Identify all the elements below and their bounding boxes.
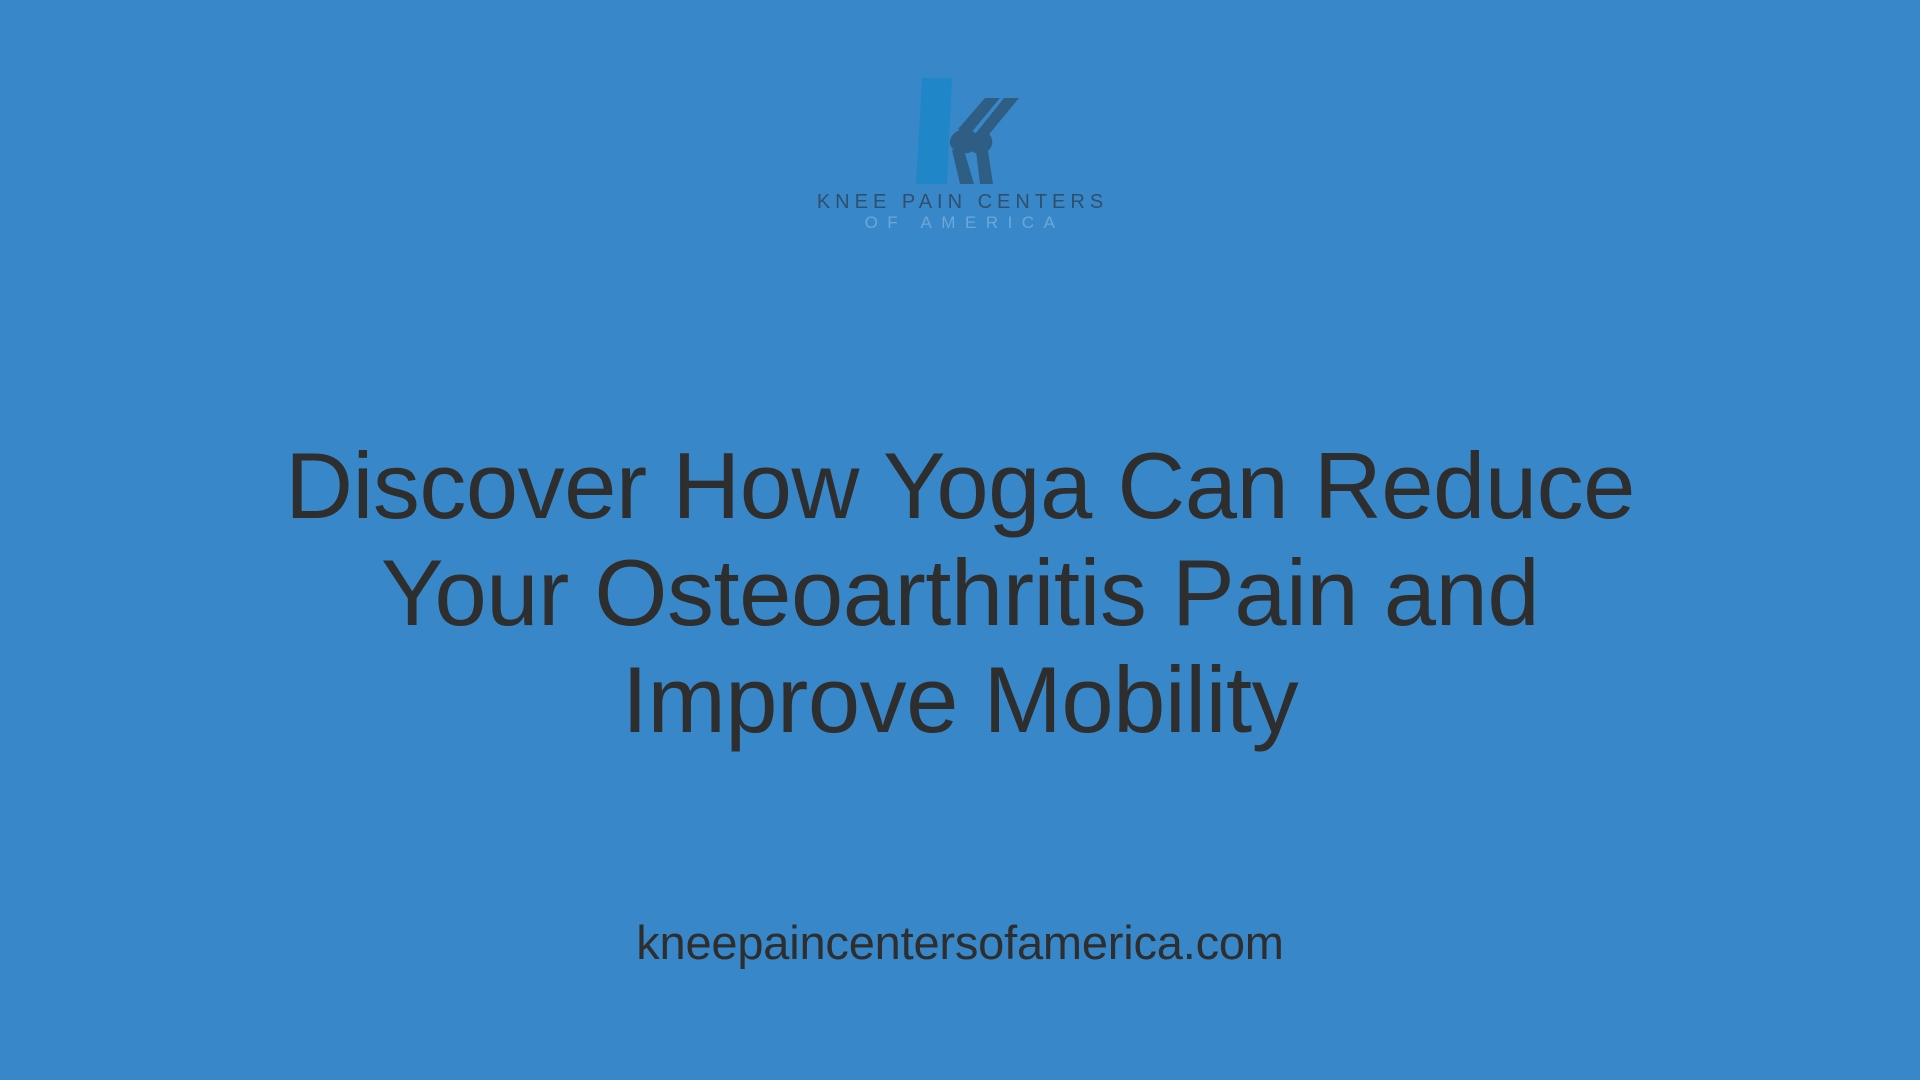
headline-line-1: Discover How Yoga Can Reduce [285,433,1635,538]
knee-joint-k-logo-icon [900,72,1020,190]
website-url: kneepaincentersofamerica.com [636,915,1284,970]
headline-line-2: Your Osteoarthritis Pain and [381,540,1539,645]
logo-wordmark: KNEE PAIN CENTERS [812,192,1108,213]
logo-subwordmark: OF AMERICA [856,214,1065,232]
page-title: Discover How Yoga Can Reduce Your Osteoa… [180,432,1740,753]
brand-logo: KNEE PAIN CENTERS OF AMERICA [790,72,1130,232]
title-slide: KNEE PAIN CENTERS OF AMERICA Discover Ho… [0,0,1920,1080]
headline-line-3: Improve Mobility [622,647,1298,752]
